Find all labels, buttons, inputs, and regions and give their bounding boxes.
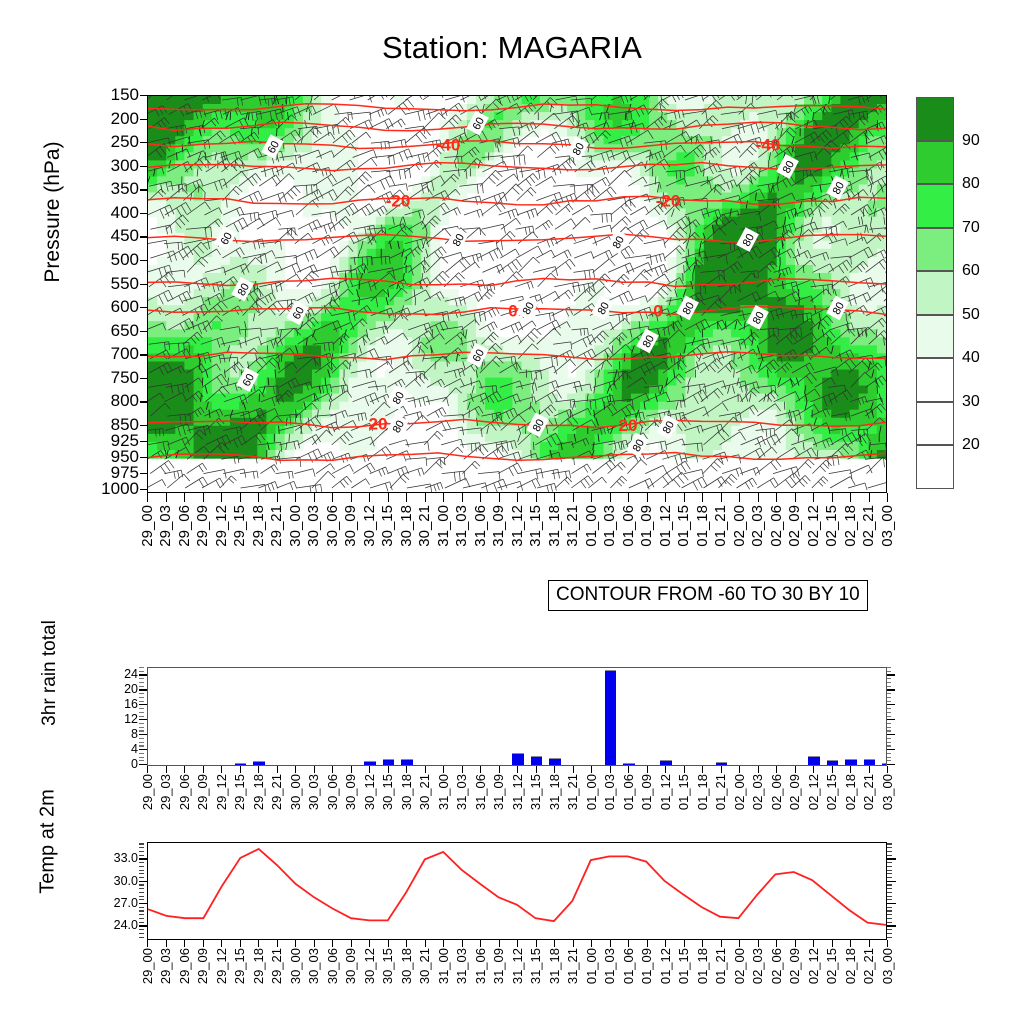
temp-y-minor-tick xyxy=(139,933,144,934)
rain-x-tick xyxy=(351,766,352,773)
main-y-tick-label: 750 xyxy=(111,368,139,388)
main-y-tick-label: 1000 xyxy=(101,479,139,499)
temp-x-tick-label: 01_12 xyxy=(658,948,673,984)
temp-y-minor-tick xyxy=(139,892,144,893)
rain-y-minor-tick xyxy=(139,701,144,702)
rain-bar[interactable] xyxy=(864,759,875,765)
rain-x-tick xyxy=(813,766,814,773)
temp-x-tick xyxy=(147,940,148,947)
rain-bar[interactable] xyxy=(512,753,523,765)
main-x-tick-label: 29_18 xyxy=(250,505,267,547)
temp-x-tick xyxy=(351,940,352,947)
time-height-cross-section-plot[interactable]: -40-40-20-200020206080606080808080808060… xyxy=(147,95,887,493)
main-x-tick-label: 30_12 xyxy=(361,505,378,547)
rain-x-tick-label: 31_06 xyxy=(473,774,488,810)
rain-x-tick-label: 02_00 xyxy=(732,774,747,810)
main-x-tick xyxy=(554,493,555,502)
temp-x-tick-label: 30_06 xyxy=(325,948,340,984)
colorbar-band[interactable] xyxy=(916,184,954,228)
temp-line xyxy=(148,843,886,939)
main-x-tick-label: 30_00 xyxy=(287,505,304,547)
main-x-tick xyxy=(221,493,222,502)
rain-x-tick-label: 29_18 xyxy=(251,774,266,810)
rain-y-tick-label: 8 xyxy=(131,727,138,741)
main-x-tick-label: 31_15 xyxy=(527,505,544,547)
rain-x-tick-label: 31_09 xyxy=(491,774,506,810)
temp-x-tick-label: 29_21 xyxy=(269,948,284,984)
rain-bar[interactable] xyxy=(383,759,394,765)
colorbar-tick-label: 40 xyxy=(962,349,980,367)
rain-bar[interactable] xyxy=(827,760,838,765)
main-x-tick xyxy=(369,493,370,502)
rain-y-tick-label: 4 xyxy=(131,742,138,756)
rain-bar[interactable] xyxy=(623,763,634,765)
rain-x-tick xyxy=(795,766,796,773)
rain-y-minor-tick xyxy=(139,678,144,679)
rain-x-tick xyxy=(480,766,481,773)
rain-bar[interactable] xyxy=(882,763,887,765)
rain-y-minor-tick xyxy=(139,757,144,758)
temp-x-tick-label: 29_18 xyxy=(251,948,266,984)
temp-x-tick-label: 03_00 xyxy=(880,948,895,984)
rain-x-tick xyxy=(647,766,648,773)
main-y-tick-label: 800 xyxy=(111,391,139,411)
rain-bar[interactable] xyxy=(235,763,246,765)
colorbar-tick-label: 50 xyxy=(962,306,980,324)
rain-bar-chart[interactable] xyxy=(147,667,887,766)
rain-x-tick-label: 31_12 xyxy=(510,774,525,810)
rain-x-tick xyxy=(554,766,555,773)
temp-x-tick xyxy=(591,940,592,947)
main-plot-x-axis-labels: 29_0029_0329_0629_0929_1229_1529_1829_21… xyxy=(147,505,887,583)
rain-y-tick xyxy=(886,764,895,765)
rain-y-tick-label: 0 xyxy=(131,757,138,771)
temp-x-tick xyxy=(499,940,500,947)
main-x-tick-label: 31_12 xyxy=(509,505,526,547)
temp-x-tick xyxy=(166,940,167,947)
temp-plot-y-axis-labels: 24.027.030.033.0 xyxy=(70,842,138,940)
rain-x-tick xyxy=(425,766,426,773)
temp-x-tick-label: 30_21 xyxy=(417,948,432,984)
temp-x-tick xyxy=(721,940,722,947)
temp-y-tick xyxy=(886,858,896,859)
main-x-tick xyxy=(591,493,592,502)
main-x-tick xyxy=(425,493,426,502)
colorbar-labels: 9080706050403020 xyxy=(962,97,1022,489)
temp-x-tick-label: 02_06 xyxy=(769,948,784,984)
rain-bar[interactable] xyxy=(531,756,542,765)
temp-y-minor-tick xyxy=(139,896,144,897)
main-x-tick-label: 02_21 xyxy=(860,505,877,547)
temp-x-tick xyxy=(739,940,740,947)
main-x-tick xyxy=(203,493,204,502)
rain-x-tick-label: 01_03 xyxy=(602,774,617,810)
temp-y-minor-tick xyxy=(139,862,144,863)
main-y-tick xyxy=(140,213,147,214)
rain-x-tick xyxy=(887,766,888,773)
temp-x-tick-label: 31_03 xyxy=(454,948,469,984)
colorbar-tick-label: 60 xyxy=(962,262,980,280)
temp-x-tick xyxy=(684,940,685,947)
temp-x-tick xyxy=(240,940,241,947)
main-x-tick xyxy=(758,493,759,502)
rain-y-tick-label: 16 xyxy=(124,697,138,711)
rain-x-tick-label: 29_06 xyxy=(177,774,192,810)
main-x-tick-label: 02_00 xyxy=(731,505,748,547)
rain-x-tick-label: 30_15 xyxy=(380,774,395,810)
temp-x-tick-label: 29_12 xyxy=(214,948,229,984)
main-y-tick-label: 450 xyxy=(111,226,139,246)
temp-y-minor-tick xyxy=(139,851,144,852)
rain-x-tick xyxy=(147,766,148,773)
rain-y-minor-tick xyxy=(139,730,144,731)
rain-x-tick xyxy=(573,766,574,773)
rain-x-tick-label: 31_18 xyxy=(547,774,562,810)
rain-bar[interactable] xyxy=(401,759,412,765)
rain-x-tick-label: 02_15 xyxy=(824,774,839,810)
main-x-tick-label: 03_00 xyxy=(879,505,896,547)
main-x-tick xyxy=(573,493,574,502)
temp-plot-x-axis-labels: 29_0029_0329_0629_0929_1229_1529_1829_21… xyxy=(147,948,887,1008)
rain-x-tick xyxy=(332,766,333,773)
temp-x-tick-label: 31_15 xyxy=(528,948,543,984)
main-y-tick xyxy=(140,236,147,237)
main-x-tick xyxy=(684,493,685,502)
main-x-tick-label: 01_12 xyxy=(657,505,674,547)
rain-x-tick xyxy=(684,766,685,773)
rain-y-tick xyxy=(886,674,895,675)
rain-x-tick xyxy=(850,766,851,773)
temp-x-tick-label: 01_00 xyxy=(584,948,599,984)
rain-x-tick xyxy=(591,766,592,773)
rain-x-tick xyxy=(721,766,722,773)
temp-y-minor-tick xyxy=(139,873,144,874)
rain-bar[interactable] xyxy=(364,761,375,765)
temp-plot-x-ticks xyxy=(147,940,887,948)
main-y-tick xyxy=(140,95,147,96)
temp-x-tick xyxy=(462,940,463,947)
rain-x-tick-label: 30_03 xyxy=(306,774,321,810)
rain-plot-x-ticks xyxy=(147,766,887,774)
temp-x-tick xyxy=(536,940,537,947)
main-x-tick xyxy=(295,493,296,502)
temp-x-tick-label: 29_09 xyxy=(195,948,210,984)
main-x-tick xyxy=(702,493,703,502)
temp-x-tick xyxy=(332,940,333,947)
temp-x-tick xyxy=(369,940,370,947)
temp-x-tick-label: 30_15 xyxy=(380,948,395,984)
temp-x-tick-label: 30_12 xyxy=(362,948,377,984)
colorbar-band[interactable] xyxy=(916,97,954,141)
rain-bar[interactable] xyxy=(716,762,727,765)
main-x-tick-label: 31_06 xyxy=(472,505,489,547)
rain-x-tick xyxy=(702,766,703,773)
main-x-tick-label: 02_06 xyxy=(768,505,785,547)
main-y-tick xyxy=(140,401,147,402)
temp-x-tick xyxy=(425,940,426,947)
rain-x-tick-label: 01_18 xyxy=(695,774,710,810)
temp-x-tick-label: 31_12 xyxy=(510,948,525,984)
main-x-tick xyxy=(850,493,851,502)
rain-x-tick-label: 31_03 xyxy=(454,774,469,810)
rain-x-tick-label: 29_15 xyxy=(232,774,247,810)
main-y-tick xyxy=(140,142,147,143)
temp-x-tick xyxy=(184,940,185,947)
temp-x-tick-label: 30_18 xyxy=(399,948,414,984)
rain-x-tick xyxy=(758,766,759,773)
main-x-tick-label: 30_06 xyxy=(324,505,341,547)
rain-x-tick xyxy=(499,766,500,773)
main-x-tick xyxy=(480,493,481,502)
colorbar-band[interactable] xyxy=(916,228,954,272)
rain-x-tick-label: 03_00 xyxy=(880,774,895,810)
main-x-tick-label: 01_09 xyxy=(638,505,655,547)
rain-y-minor-tick xyxy=(139,738,144,739)
rain-x-tick xyxy=(221,766,222,773)
temp-y-tick-label: 24.0 xyxy=(114,918,138,932)
temp-x-tick-label: 31_06 xyxy=(473,948,488,984)
temp-x-tick xyxy=(813,940,814,947)
rain-x-tick-label: 29_21 xyxy=(269,774,284,810)
temp-y-tick-label: 27.0 xyxy=(114,896,138,910)
rain-y-minor-tick xyxy=(139,682,144,683)
temp-x-tick-label: 30_03 xyxy=(306,948,321,984)
rain-y-minor-tick xyxy=(139,745,144,746)
main-y-tick-label: 150 xyxy=(111,85,139,105)
rain-x-tick-label: 01_15 xyxy=(676,774,691,810)
main-x-tick-label: 30_15 xyxy=(379,505,396,547)
rain-x-tick-label: 30_18 xyxy=(399,774,414,810)
main-y-tick xyxy=(140,331,147,332)
main-x-tick-label: 01_15 xyxy=(675,505,692,547)
temp-x-tick-label: 29_00 xyxy=(140,948,155,984)
temp-x-tick-label: 02_18 xyxy=(843,948,858,984)
main-x-tick-label: 01_21 xyxy=(712,505,729,547)
rain-x-tick-label: 02_09 xyxy=(787,774,802,810)
rain-x-tick xyxy=(184,766,185,773)
rain-x-tick-label: 29_00 xyxy=(140,774,155,810)
temp-x-tick xyxy=(776,940,777,947)
main-x-tick xyxy=(240,493,241,502)
rain-x-tick xyxy=(739,766,740,773)
rain-plot-y-axis-labels: 04812162024 xyxy=(70,667,138,766)
temp-y-minor-tick xyxy=(139,918,144,919)
temp-x-tick-label: 01_03 xyxy=(602,948,617,984)
temp-x-tick xyxy=(295,940,296,947)
temp-x-tick xyxy=(277,940,278,947)
rain-x-tick xyxy=(462,766,463,773)
main-x-tick xyxy=(351,493,352,502)
rain-x-tick xyxy=(406,766,407,773)
temp-x-tick xyxy=(573,940,574,947)
rain-y-minor-tick xyxy=(139,686,144,687)
temp-x-tick xyxy=(258,940,259,947)
rain-y-tick xyxy=(886,749,895,750)
temp-x-tick xyxy=(665,940,666,947)
temp-x-tick-label: 01_06 xyxy=(621,948,636,984)
temp-y-minor-tick xyxy=(139,866,144,867)
main-x-tick-label: 02_18 xyxy=(842,505,859,547)
main-x-tick-label: 02_12 xyxy=(805,505,822,547)
temp-x-tick-label: 02_03 xyxy=(750,948,765,984)
main-x-tick-label: 29_00 xyxy=(139,505,156,547)
rain-x-tick xyxy=(628,766,629,773)
rain-y-tick xyxy=(886,719,895,720)
temp-y-minor-tick xyxy=(139,843,144,844)
main-x-tick-label: 29_06 xyxy=(176,505,193,547)
main-y-tick xyxy=(140,457,147,458)
temp-x-tick-label: 02_00 xyxy=(732,948,747,984)
temp-x-tick-label: 02_21 xyxy=(861,948,876,984)
rain-y-tick-label: 20 xyxy=(124,682,138,696)
main-y-tick-label: 400 xyxy=(111,203,139,223)
rain-x-tick-label: 29_09 xyxy=(195,774,210,810)
temp-y-tick xyxy=(886,903,896,904)
main-y-tick-label: 650 xyxy=(111,321,139,341)
main-x-tick-label: 01_18 xyxy=(694,505,711,547)
rain-bar[interactable] xyxy=(845,759,856,765)
temp-x-tick xyxy=(480,940,481,947)
temp-x-tick xyxy=(203,940,204,947)
main-x-tick-label: 29_12 xyxy=(213,505,230,547)
rain-x-tick-label: 01_21 xyxy=(713,774,728,810)
rain-bar[interactable] xyxy=(549,758,560,765)
colorbar-band[interactable] xyxy=(916,141,954,185)
main-x-tick xyxy=(166,493,167,502)
rain-x-tick xyxy=(166,766,167,773)
rain-x-tick-label: 30_12 xyxy=(362,774,377,810)
temp-y-minor-tick xyxy=(139,884,144,885)
main-x-tick xyxy=(462,493,463,502)
temp-x-tick-label: 29_06 xyxy=(177,948,192,984)
rain-y-minor-tick xyxy=(139,712,144,713)
main-x-tick-label: 01_03 xyxy=(601,505,618,547)
colorbar-band[interactable] xyxy=(916,402,954,446)
rain-x-tick-label: 01_12 xyxy=(658,774,673,810)
temp-x-tick-label: 02_12 xyxy=(806,948,821,984)
main-x-tick-label: 31_18 xyxy=(546,505,563,547)
rain-y-tick-label: 12 xyxy=(124,712,138,726)
temp-plot-ylabel: Temp at 2m xyxy=(37,732,60,952)
temp-y-minor-tick xyxy=(139,888,144,889)
colorbar[interactable] xyxy=(916,97,954,489)
main-y-tick-label: 700 xyxy=(111,344,139,364)
main-x-tick-label: 30_09 xyxy=(342,505,359,547)
temp-y-tick-label: 33.0 xyxy=(114,851,138,865)
temp-x-tick-label: 01_15 xyxy=(676,948,691,984)
colorbar-band[interactable] xyxy=(916,445,954,489)
temp-y-minor-tick xyxy=(139,937,144,938)
temp-x-tick xyxy=(443,940,444,947)
temp-y-minor-tick xyxy=(139,899,144,900)
temp-y-tick xyxy=(886,881,896,882)
page-title: Station: MAGARIA xyxy=(0,30,1024,66)
rain-x-tick-label: 29_03 xyxy=(158,774,173,810)
rain-x-tick-label: 31_21 xyxy=(565,774,580,810)
rain-x-tick xyxy=(517,766,518,773)
temp-x-tick xyxy=(517,940,518,947)
rain-y-minor-tick xyxy=(139,753,144,754)
rain-x-tick-label: 02_21 xyxy=(861,774,876,810)
main-x-tick xyxy=(406,493,407,502)
rain-x-tick xyxy=(388,766,389,773)
colorbar-band[interactable] xyxy=(916,271,954,315)
colorbar-band[interactable] xyxy=(916,358,954,402)
main-x-tick xyxy=(147,493,148,502)
main-y-tick xyxy=(140,441,147,442)
temp-x-tick xyxy=(887,940,888,947)
temp-x-tick-label: 29_03 xyxy=(158,948,173,984)
main-y-tick-label: 200 xyxy=(111,109,139,129)
rain-x-tick xyxy=(369,766,370,773)
main-x-tick-label: 31_03 xyxy=(453,505,470,547)
temp-x-tick-label: 02_09 xyxy=(787,948,802,984)
temp-x-tick-label: 31_00 xyxy=(436,948,451,984)
main-x-tick-label: 02_15 xyxy=(823,505,840,547)
rain-x-tick-label: 02_12 xyxy=(806,774,821,810)
contour-field: -40-40-20-200020206080606080808080808060… xyxy=(148,96,886,492)
rain-plot-x-axis-labels: 29_0029_0329_0629_0929_1229_1529_1829_21… xyxy=(147,774,887,834)
colorbar-tick-label: 70 xyxy=(962,219,980,237)
rain-x-tick-label: 30_21 xyxy=(417,774,432,810)
main-x-tick xyxy=(721,493,722,502)
temp-x-tick xyxy=(795,940,796,947)
rain-x-tick-label: 30_09 xyxy=(343,774,358,810)
rain-x-tick-label: 02_18 xyxy=(843,774,858,810)
rain-x-tick-label: 01_09 xyxy=(639,774,654,810)
rain-x-tick-label: 30_06 xyxy=(325,774,340,810)
main-x-tick-label: 30_21 xyxy=(416,505,433,547)
colorbar-tick-label: 30 xyxy=(962,393,980,411)
main-y-tick xyxy=(140,378,147,379)
rain-x-tick xyxy=(277,766,278,773)
temp-x-tick-label: 31_09 xyxy=(491,948,506,984)
main-plot-x-ticks xyxy=(147,493,887,503)
rain-y-minor-tick xyxy=(139,708,144,709)
main-y-tick xyxy=(140,489,147,490)
main-x-tick xyxy=(628,493,629,502)
rain-bar[interactable] xyxy=(605,670,616,766)
main-x-tick xyxy=(647,493,648,502)
temp-y-tick-label: 30.0 xyxy=(114,874,138,888)
rain-x-tick xyxy=(314,766,315,773)
rain-bar[interactable] xyxy=(808,756,819,765)
temp-x-tick xyxy=(702,940,703,947)
temp-y-minor-tick xyxy=(139,907,144,908)
temp-y-minor-tick xyxy=(139,922,144,923)
temp-y-minor-tick xyxy=(139,877,144,878)
temp-x-tick xyxy=(406,940,407,947)
main-y-tick-label: 500 xyxy=(111,250,139,270)
temp-x-tick xyxy=(850,940,851,947)
temp-x-tick-label: 02_15 xyxy=(824,948,839,984)
main-x-tick-label: 31_21 xyxy=(564,505,581,547)
rain-x-tick-label: 01_06 xyxy=(621,774,636,810)
rain-y-minor-tick xyxy=(139,723,144,724)
colorbar-band[interactable] xyxy=(916,315,954,359)
temp-x-tick-label: 30_09 xyxy=(343,948,358,984)
main-y-tick xyxy=(140,307,147,308)
rain-bar[interactable] xyxy=(660,760,671,765)
rain-y-tick xyxy=(886,734,895,735)
main-y-tick-label: 250 xyxy=(111,132,139,152)
temp-line-chart[interactable] xyxy=(147,842,887,940)
temp-x-tick xyxy=(388,940,389,947)
temp-y-minor-tick xyxy=(139,847,144,848)
rain-y-minor-tick xyxy=(139,742,144,743)
rain-bar[interactable] xyxy=(253,761,264,765)
rain-y-minor-tick xyxy=(139,697,144,698)
